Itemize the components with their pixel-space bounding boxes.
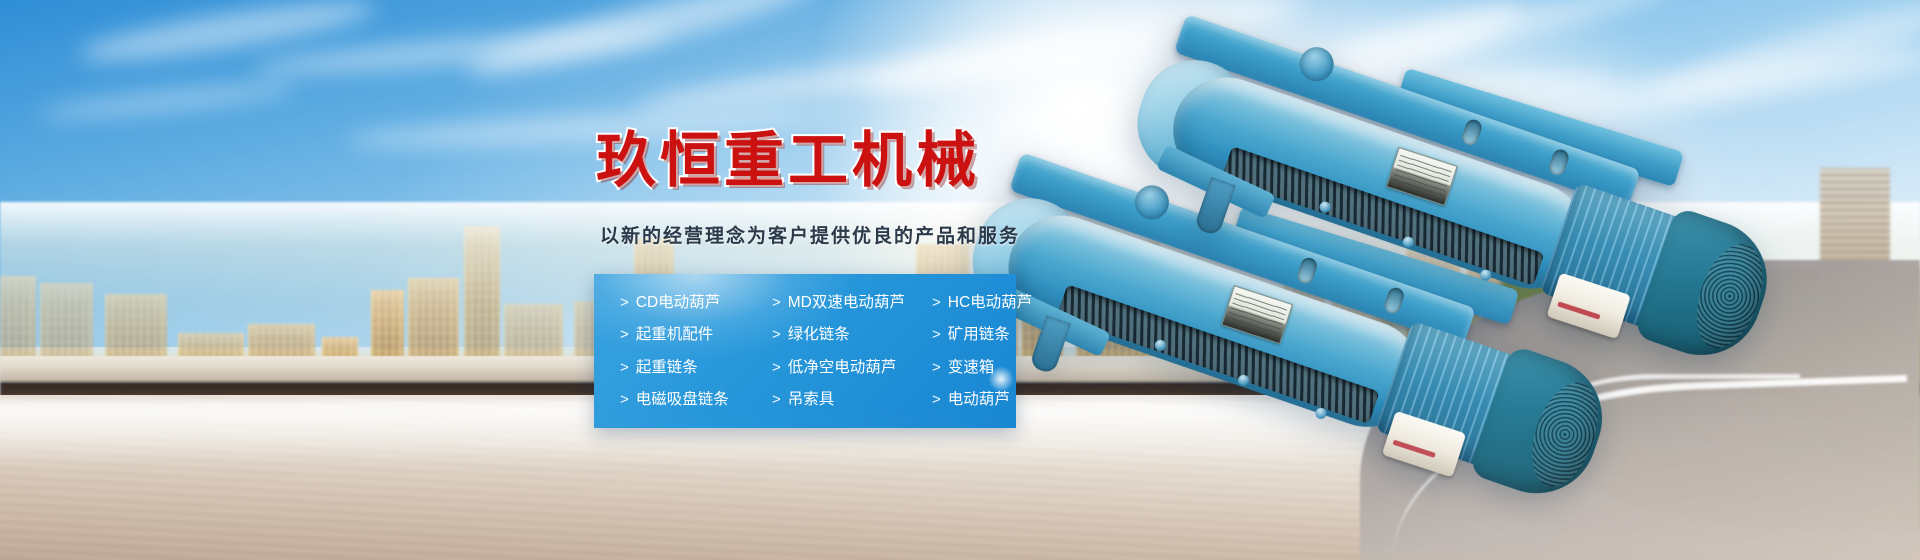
product-link-label: 低净空电动葫芦: [788, 360, 897, 376]
product-link-label: 变速箱: [948, 360, 995, 376]
product-link-3[interactable]: >HC电动葫芦: [932, 286, 1042, 319]
product-link-label: 电磁吸盘链条: [636, 392, 729, 408]
chevron-right-icon: >: [620, 392, 629, 407]
product-link-5[interactable]: >绿化链条: [772, 319, 932, 352]
chevron-right-icon: >: [932, 327, 941, 342]
chevron-right-icon: >: [932, 392, 941, 407]
product-link-label: MD双速电动葫芦: [788, 295, 905, 311]
product-link-label: 起重机配件: [636, 327, 714, 343]
product-link-4[interactable]: >起重机配件: [620, 319, 772, 352]
product-link-11[interactable]: >吊索具: [772, 384, 932, 417]
product-link-12[interactable]: >电动葫芦: [932, 384, 1042, 417]
product-links-panel: >CD电动葫芦>MD双速电动葫芦>HC电动葫芦>起重机配件>绿化链条>矿用链条>…: [594, 274, 1016, 428]
chevron-right-icon: >: [772, 295, 781, 310]
beam-lug-hole: [1460, 117, 1484, 147]
product-link-1[interactable]: >CD电动葫芦: [620, 286, 772, 319]
page-title: 玖恒重工机械: [596, 112, 980, 199]
cloud-wisp: [38, 77, 299, 126]
chevron-right-icon: >: [772, 327, 781, 342]
chevron-right-icon: >: [932, 295, 941, 310]
product-link-label: 起重链条: [636, 360, 698, 376]
product-link-label: 矿用链条: [948, 327, 1010, 343]
product-link-10[interactable]: >电磁吸盘链条: [620, 384, 772, 417]
product-link-label: 绿化链条: [788, 327, 850, 343]
product-link-label: HC电动葫芦: [948, 295, 1032, 311]
beam-lug-hole: [1547, 147, 1571, 177]
chevron-right-icon: >: [772, 360, 781, 375]
page-subtitle: 以新的经营理念为客户提供优良的产品和服务: [600, 221, 1020, 248]
cloud-wisp: [76, 0, 378, 71]
cloud-wisp: [1651, 0, 1920, 116]
product-link-7[interactable]: >起重链条: [620, 351, 772, 384]
chevron-right-icon: >: [620, 327, 629, 342]
chevron-right-icon: >: [620, 360, 629, 375]
product-link-6[interactable]: >矿用链条: [932, 319, 1042, 352]
chevron-right-icon: >: [932, 360, 941, 375]
chevron-right-icon: >: [772, 392, 781, 407]
product-link-2[interactable]: >MD双速电动葫芦: [772, 286, 932, 319]
product-link-8[interactable]: >低净空电动葫芦: [772, 351, 932, 384]
product-link-label: 电动葫芦: [948, 392, 1010, 408]
product-link-label: 吊索具: [788, 392, 835, 408]
hero-banner: 玖恒重工机械 以新的经营理念为客户提供优良的产品和服务 >CD电动葫芦>MD双速…: [0, 0, 1920, 560]
product-link-9[interactable]: >变速箱: [932, 351, 1042, 384]
chevron-right-icon: >: [620, 295, 629, 310]
cloud-wisp: [249, 20, 670, 83]
product-link-label: CD电动葫芦: [636, 295, 720, 311]
